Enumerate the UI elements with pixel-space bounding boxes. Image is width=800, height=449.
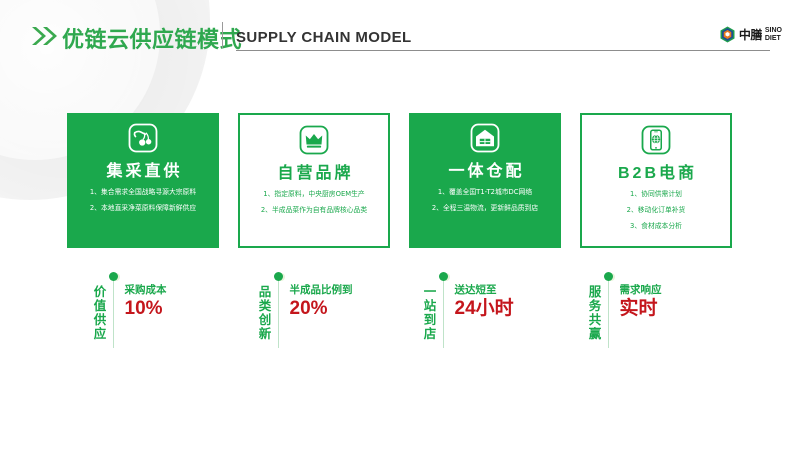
metric-2-body: 半成品比例到 20% (290, 284, 353, 319)
metric-2-label: 半成品比例到 (290, 284, 353, 297)
header-underline (236, 50, 770, 51)
page-title: 优链云供应链模式 (62, 22, 242, 54)
metric-4-rail (604, 272, 613, 348)
pillar-card-1[interactable]: 集采直供 1、集合需求全国战略寻源大宗原料 2、本地直采净菜原料保障新鲜供应 (67, 113, 219, 248)
mobile-globe-icon (641, 125, 671, 155)
metric-rail-line (608, 280, 609, 348)
metric-1-value: 10% (125, 299, 167, 320)
list-item: 3、食材成本分析 (582, 222, 730, 231)
metric-dot-icon (604, 272, 613, 281)
metric-dot-icon (439, 272, 448, 281)
logo-name-en: SINO DIET (765, 27, 782, 41)
metric-2-category: 品类创新 (257, 285, 270, 341)
logo-name-en-line1: SINO (765, 27, 782, 34)
metric-rail-line (278, 280, 279, 348)
pillar-card-3[interactable]: 一体仓配 1、覆盖全国T1-T2城市DC网络 2、全程三温物流，更新鲜品质到店 (409, 113, 561, 248)
list-item: 2、移动化订单补货 (582, 206, 730, 215)
metric-1-rail (109, 272, 118, 348)
page-header: 优链云供应链模式 SUPPLY CHAIN MODEL 中膳 SINO DIET (0, 0, 800, 66)
hand-picking-fruit-icon (128, 123, 158, 153)
metric-3-label: 送达短至 (455, 284, 514, 297)
logo-name-cn: 中膳 (739, 29, 762, 41)
logo-name-en-line2: DIET (765, 35, 782, 42)
metric-dot-icon (109, 272, 118, 281)
metric-3-body: 送达短至 24小时 (455, 284, 514, 319)
pillar-card-3-list: 1、覆盖全国T1-T2城市DC网络 2、全程三温物流，更新鲜品质到店 (409, 188, 561, 220)
list-item: 1、覆盖全国T1-T2城市DC网络 (409, 188, 561, 197)
pillar-card-4[interactable]: B2B电商 1、协同供需计划 2、移动化订单补货 3、食材成本分析 (580, 113, 732, 248)
metric-3-value: 24小时 (455, 299, 514, 320)
metric-row: 价值供应 采购成本 10% 品类创新 半成品比例到 20% 一站到店 (92, 272, 752, 357)
pillar-card-row: 集采直供 1、集合需求全国战略寻源大宗原料 2、本地直采净菜原料保障新鲜供应 自… (67, 113, 733, 248)
list-item: 1、集合需求全国战略寻源大宗原料 (67, 188, 219, 197)
pillar-card-4-list: 1、协同供需计划 2、移动化订单补货 3、食材成本分析 (582, 190, 730, 239)
metric-4-value: 实时 (620, 299, 662, 320)
metric-1-category: 价值供应 (92, 285, 105, 341)
warehouse-icon (470, 123, 500, 153)
pillar-card-3-title: 一体仓配 (445, 157, 524, 181)
metric-dot-icon (274, 272, 283, 281)
brand-logo: 中膳 SINO DIET (719, 26, 782, 43)
pillar-card-4-title: B2B电商 (615, 159, 697, 183)
metric-1: 价值供应 采购成本 10% (92, 272, 257, 357)
list-item: 1、指定原料，中央厨房OEM生产 (240, 190, 388, 199)
pillar-card-2[interactable]: 自营品牌 1、指定原料，中央厨房OEM生产 2、半成品菜作为自有品牌核心品类 (238, 113, 390, 248)
metric-4-body: 需求响应 实时 (620, 284, 662, 319)
header-divider (222, 22, 223, 48)
metric-4-category: 服务共赢 (587, 285, 600, 341)
hexagon-logo-icon (719, 26, 736, 43)
pillar-card-2-list: 1、指定原料，中央厨房OEM生产 2、半成品菜作为自有品牌核心品类 (240, 190, 388, 222)
metric-3-rail (439, 272, 448, 348)
list-item: 2、全程三温物流，更新鲜品质到店 (409, 204, 561, 213)
metric-rail-line (443, 280, 444, 348)
metric-2-value: 20% (290, 299, 353, 320)
metric-1-label: 采购成本 (125, 284, 167, 297)
pillar-card-2-title: 自营品牌 (274, 159, 353, 183)
metric-4-label: 需求响应 (620, 284, 662, 297)
list-item: 1、协同供需计划 (582, 190, 730, 199)
list-item: 2、本地直采净菜原料保障新鲜供应 (67, 204, 219, 213)
metric-rail-line (113, 280, 114, 348)
metric-2-rail (274, 272, 283, 348)
page-subtitle: SUPPLY CHAIN MODEL (236, 29, 412, 46)
pillar-card-1-list: 1、集合需求全国战略寻源大宗原料 2、本地直采净菜原料保障新鲜供应 (67, 188, 219, 220)
metric-1-body: 采购成本 10% (125, 284, 167, 319)
metric-2: 品类创新 半成品比例到 20% (257, 272, 422, 357)
pillar-card-1-title: 集采直供 (103, 157, 182, 181)
list-item: 2、半成品菜作为自有品牌核心品类 (240, 206, 388, 215)
metric-4: 服务共赢 需求响应 实时 (587, 272, 752, 357)
crown-icon (299, 125, 329, 155)
metric-3-category: 一站到店 (422, 285, 435, 341)
metric-3: 一站到店 送达短至 24小时 (422, 272, 587, 357)
double-chevron-right-icon (30, 26, 60, 46)
